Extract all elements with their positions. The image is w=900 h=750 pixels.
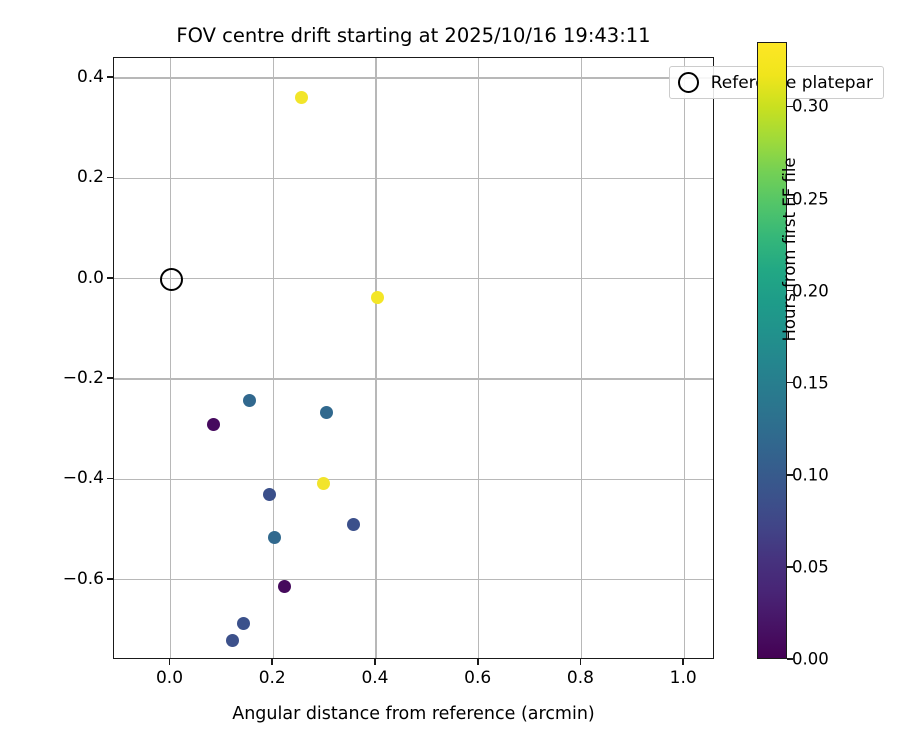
y-gridline [114,378,713,379]
data-point [317,477,330,490]
y-tick-label: −0.4 [40,468,104,488]
x-tick-mark [477,659,479,665]
y-gridline [114,77,713,78]
y-tick-mark [107,377,113,379]
data-point [295,91,308,104]
x-gridline [581,58,582,658]
y-tick-label: 0.2 [40,167,104,187]
colorbar-tick-label: 0.20 [792,281,829,300]
y-gridline [114,278,713,279]
x-tick-label: 1.0 [670,668,697,688]
colorbar-tick-label: 0.05 [792,557,829,576]
data-point [320,406,333,419]
x-tick-label: 0.0 [156,668,183,688]
data-point [243,394,256,407]
y-tick-label: 0.0 [40,268,104,288]
chart-title: FOV centre drift starting at 2025/10/16 … [113,24,714,47]
y-tick-label: 0.4 [40,67,104,87]
figure: FOV centre drift starting at 2025/10/16 … [0,0,900,750]
data-point [207,418,220,431]
open-circle-icon [678,72,699,93]
x-gridline [375,58,376,658]
y-tick-mark [107,76,113,78]
x-axis-label: Angular distance from reference (arcmin) [113,704,714,724]
colorbar-tick-label: 0.00 [792,650,829,669]
x-tick-mark [682,659,684,665]
x-tick-mark [580,659,582,665]
data-point [371,291,384,304]
y-tick-mark [107,277,113,279]
y-tick-label: −0.2 [40,368,104,388]
y-gridline [114,579,713,580]
colorbar-tick-label: 0.15 [792,373,829,392]
x-tick-mark [169,659,171,665]
x-tick-label: 0.6 [464,668,491,688]
y-tick-label: −0.6 [40,569,104,589]
colorbar [757,42,787,659]
x-tick-label: 0.4 [361,668,388,688]
plot-area [113,57,714,659]
x-gridline [478,58,479,658]
y-tick-mark [107,578,113,580]
x-tick-label: 0.8 [567,668,594,688]
legend-label-reference-platepar: Reference platepar [711,73,873,93]
x-gridline [170,58,171,658]
colorbar-label: Hours from first FF file [780,157,799,341]
colorbar-tick-label: 0.10 [792,465,829,484]
x-gridline [273,58,274,658]
x-tick-label: 0.2 [259,668,286,688]
x-tick-mark [374,659,376,665]
x-gridline [684,58,685,658]
colorbar-tick-label: 0.25 [792,189,829,208]
x-tick-mark [271,659,273,665]
y-gridline [114,479,713,480]
colorbar-tick-label: 0.30 [792,97,829,116]
y-gridline [114,178,713,179]
y-tick-mark [107,177,113,179]
y-tick-mark [107,478,113,480]
